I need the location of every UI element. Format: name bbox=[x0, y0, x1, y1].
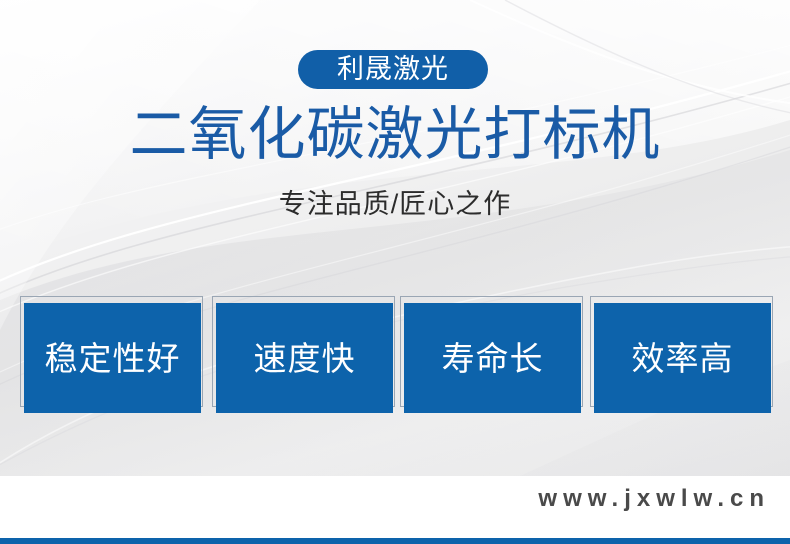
feature-list: 稳定性好 速度快 寿命长 效率高 bbox=[0, 292, 790, 422]
brand-badge: 利晟激光 bbox=[298, 50, 488, 89]
feature-card-fill: 寿命长 bbox=[404, 303, 581, 413]
feature-label: 寿命长 bbox=[442, 342, 544, 375]
footer-accent-rule bbox=[0, 538, 790, 544]
feature-card-fill: 速度快 bbox=[216, 303, 393, 413]
feature-label: 效率高 bbox=[632, 342, 734, 375]
feature-card-fill: 效率高 bbox=[594, 303, 771, 413]
feature-card-stability: 稳定性好 bbox=[20, 292, 206, 417]
feature-card-efficiency: 效率高 bbox=[590, 292, 776, 417]
feature-card-speed: 速度快 bbox=[212, 292, 398, 417]
product-banner: 利晟激光 二氧化碳激光打标机 专注品质/匠心之作 稳定性好 速度快 寿命长 bbox=[0, 0, 790, 544]
page-subtitle: 专注品质/匠心之作 bbox=[0, 188, 790, 220]
brand-badge-label: 利晟激光 bbox=[337, 56, 449, 83]
page-title: 二氧化碳激光打标机 bbox=[0, 104, 790, 167]
feature-label: 速度快 bbox=[254, 342, 356, 375]
feature-card-lifespan: 寿命长 bbox=[400, 292, 586, 417]
feature-card-fill: 稳定性好 bbox=[24, 303, 201, 413]
feature-label: 稳定性好 bbox=[45, 342, 181, 375]
website-url: www.jxwlw.cn bbox=[538, 487, 770, 511]
